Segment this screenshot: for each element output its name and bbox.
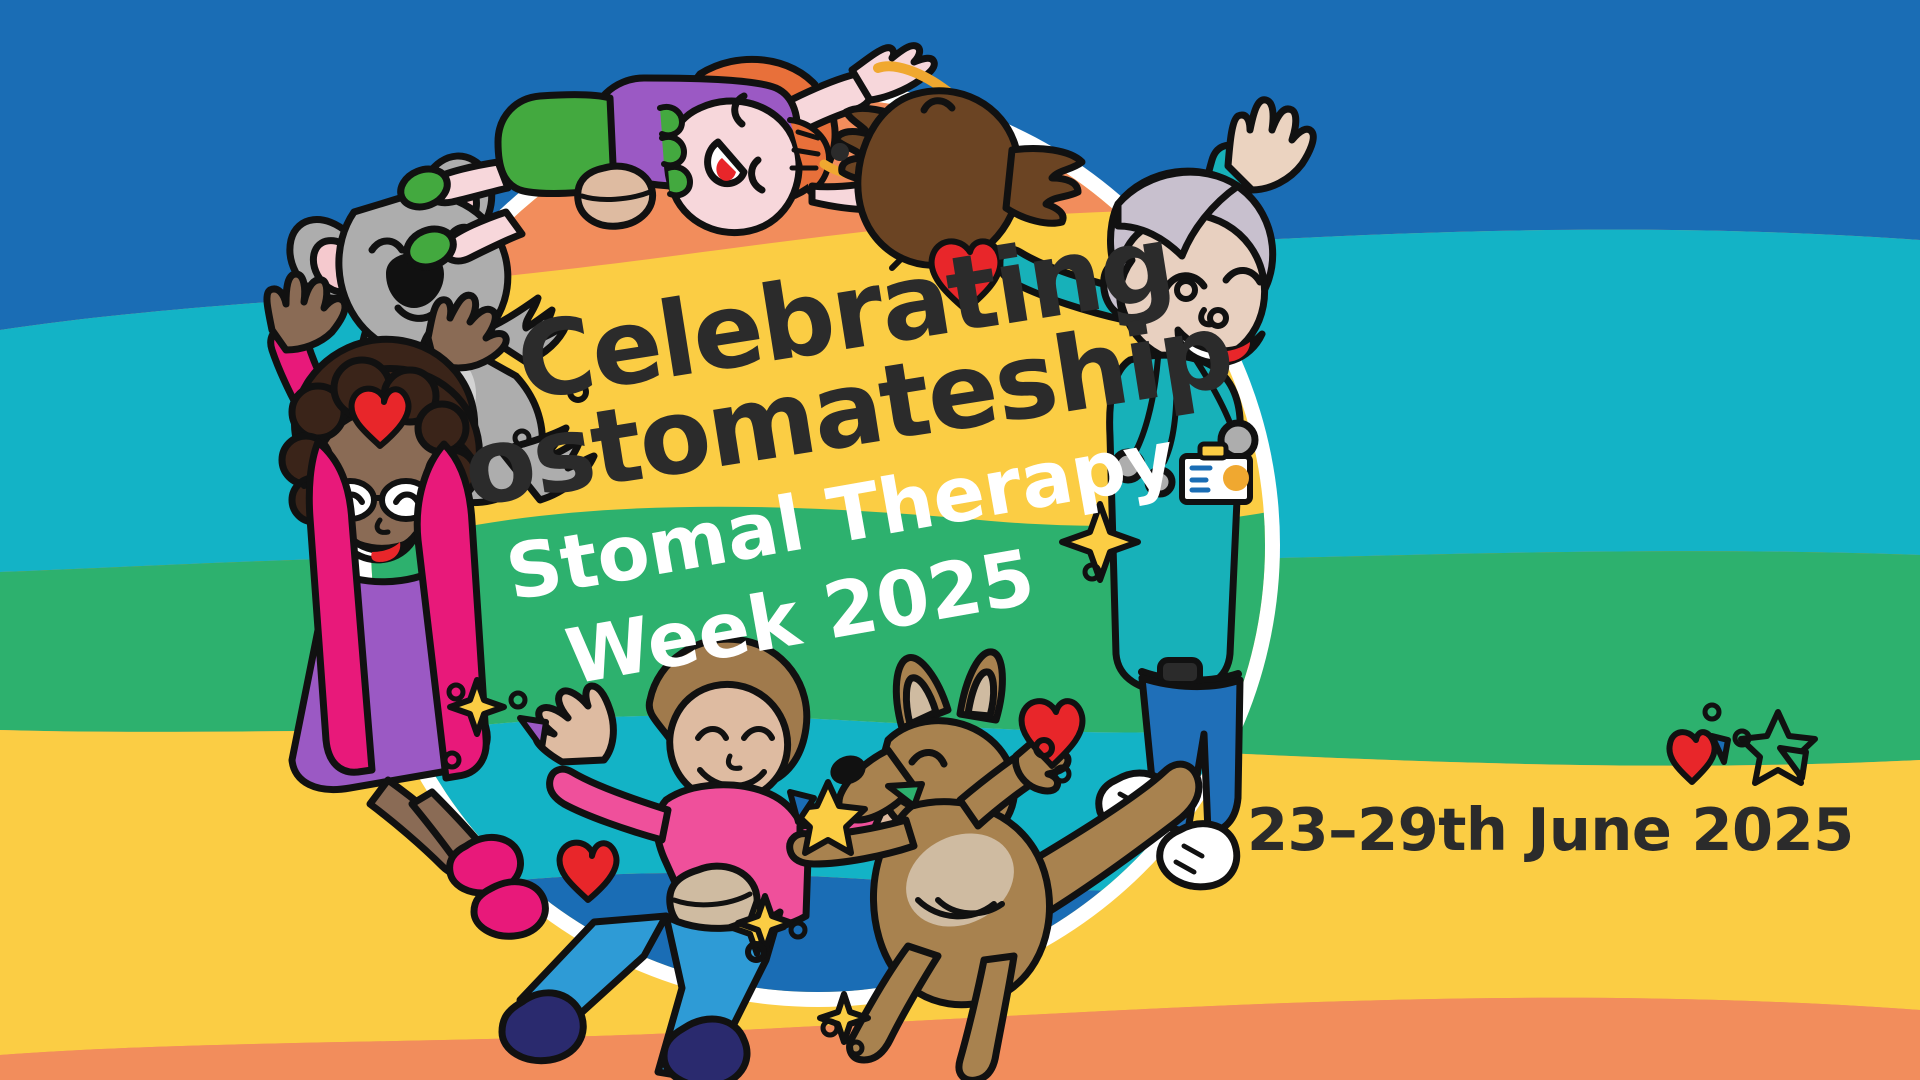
poster-canvas: Celebrating ostomateship Stomal Therapy … [0, 0, 1920, 1080]
central-circle-illustration: Celebrating ostomateship Stomal Therapy … [0, 0, 1920, 1080]
event-date-text: 23–29th June 2025 [1247, 795, 1854, 864]
confetti-dot [823, 1021, 837, 1035]
heart [1669, 732, 1714, 782]
confetti-dot [831, 143, 849, 161]
confetti-dot [1705, 705, 1719, 719]
